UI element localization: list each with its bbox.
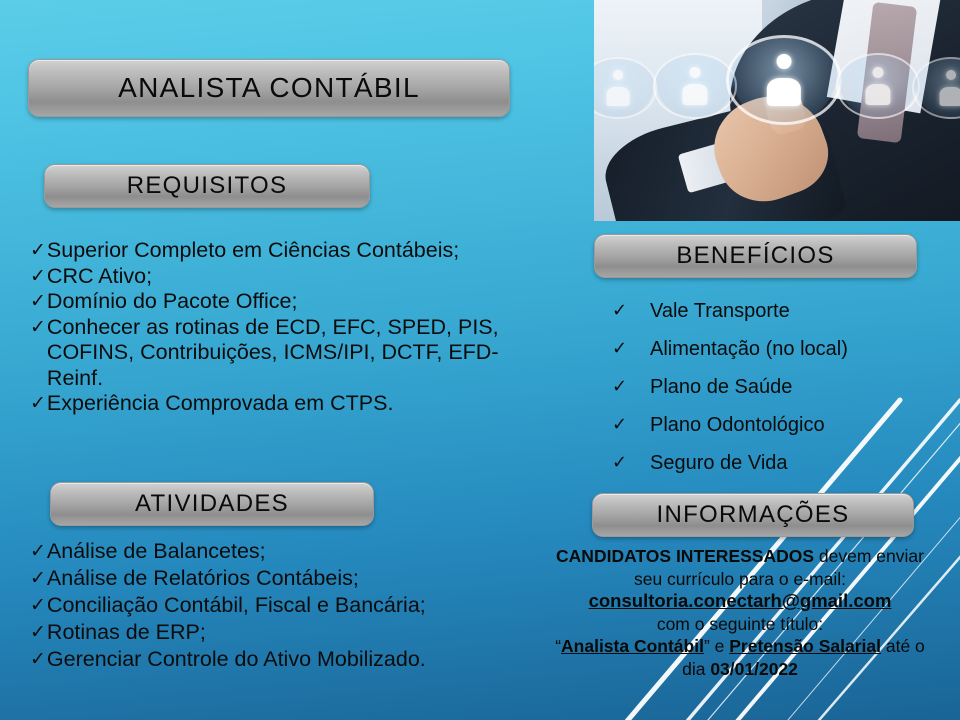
deadline-date: 03/01/2022 (710, 659, 798, 679)
list-item-label: Alimentação (no local) (650, 330, 942, 368)
person-icon (726, 35, 842, 125)
check-icon: ✓ (30, 565, 46, 592)
check-icon: ✓ (30, 646, 46, 673)
list-item-label: Domínio do Pacote Office; (47, 289, 535, 315)
job-title-banner: ANALISTA CONTÁBIL (28, 59, 510, 117)
subject-job-title: Analista Contábil (561, 636, 704, 656)
list-item: ✓ Rotinas de ERP; (30, 619, 540, 646)
contact-line-6: dia 03/01/2022 (528, 658, 952, 681)
list-item-label: Vale Transporte (650, 292, 942, 330)
hero-photo (594, 0, 960, 221)
contact-email-link[interactable]: consultoria.conectarh@gmail.com (528, 590, 952, 613)
check-icon: ✓ (612, 292, 650, 330)
check-icon: ✓ (612, 444, 650, 482)
atividades-heading-text: ATIVIDADES (135, 490, 289, 518)
day-prefix: dia (682, 659, 710, 679)
list-item-label: Superior Completo em Ciências Contábeis; (47, 238, 535, 264)
requisitos-heading-text: REQUISITOS (127, 172, 288, 200)
informacoes-heading-text: INFORMAÇÕES (657, 501, 850, 529)
candidates-label: CANDIDATOS INTERESSADOS (556, 546, 814, 566)
section-heading-informacoes: INFORMAÇÕES (592, 493, 914, 537)
check-icon: ✓ (30, 289, 46, 315)
list-item-label: Seguro de Vida (650, 444, 942, 482)
beneficios-heading-text: BENEFÍCIOS (676, 242, 834, 270)
section-heading-beneficios: BENEFÍCIOS (594, 234, 917, 278)
beneficios-list: ✓ Vale Transporte ✓ Alimentação (no loca… (612, 292, 942, 482)
list-item-label: Conciliação Contábil, Fiscal e Bancária; (47, 592, 540, 619)
check-icon: ✓ (30, 238, 46, 264)
list-item: ✓ Experiência Comprovada em CTPS. (30, 391, 535, 417)
job-posting-slide: ANALISTA CONTÁBIL REQUISITOS ATIVIDADES … (0, 0, 960, 720)
contact-line-1-rest: devem enviar (814, 546, 924, 566)
check-icon: ✓ (612, 368, 650, 406)
list-item: ✓ Superior Completo em Ciências Contábei… (30, 238, 535, 264)
requisitos-list: ✓ Superior Completo em Ciências Contábei… (30, 238, 535, 417)
list-item-label: Análise de Balancetes; (47, 538, 540, 565)
check-icon: ✓ (30, 592, 46, 619)
list-item: ✓ Vale Transporte (612, 292, 942, 330)
list-item: ✓ CRC Ativo; (30, 264, 535, 290)
list-item: ✓ Plano Odontológico (612, 406, 942, 444)
job-title-text: ANALISTA CONTÁBIL (118, 72, 420, 104)
list-item: ✓ Plano de Saúde (612, 368, 942, 406)
contact-line-5: “Analista Contábil” e Pretensão Salarial… (528, 635, 952, 658)
list-item: ✓ Alimentação (no local) (612, 330, 942, 368)
check-icon: ✓ (612, 406, 650, 444)
check-icon: ✓ (30, 619, 46, 646)
person-icon (836, 53, 921, 119)
list-item: ✓ Conhecer as rotinas de ECD, EFC, SPED,… (30, 315, 535, 392)
check-icon: ✓ (30, 538, 46, 565)
list-item: ✓ Domínio do Pacote Office; (30, 289, 535, 315)
list-item-label: CRC Ativo; (47, 264, 535, 290)
list-item: ✓ Gerenciar Controle do Ativo Mobilizado… (30, 646, 540, 673)
check-icon: ✓ (612, 330, 650, 368)
section-heading-atividades: ATIVIDADES (50, 482, 374, 526)
list-item: ✓ Análise de Relatórios Contábeis; (30, 565, 540, 592)
list-item-label: Experiência Comprovada em CTPS. (47, 391, 535, 417)
check-icon: ✓ (30, 391, 46, 417)
person-icon (653, 53, 738, 119)
list-item-label: Gerenciar Controle do Ativo Mobilizado. (47, 646, 540, 673)
list-item-label: Análise de Relatórios Contábeis; (47, 565, 540, 592)
list-item-label: Plano de Saúde (650, 368, 942, 406)
list-item: ✓ Conciliação Contábil, Fiscal e Bancári… (30, 592, 540, 619)
list-item: ✓ Seguro de Vida (612, 444, 942, 482)
section-heading-requisitos: REQUISITOS (44, 164, 370, 208)
list-item-label: Plano Odontológico (650, 406, 942, 444)
list-item-label: Rotinas de ERP; (47, 619, 540, 646)
contact-line-5-tail: até o (881, 636, 925, 656)
list-item: ✓ Análise de Balancetes; (30, 538, 540, 565)
check-icon: ✓ (30, 315, 46, 341)
conjunction: e (710, 636, 729, 656)
contact-information-block: CANDIDATOS INTERESSADOS devem enviar seu… (528, 545, 952, 680)
contact-line-2: seu currículo para o e-mail: (528, 568, 952, 591)
atividades-list: ✓ Análise de Balancetes; ✓ Análise de Re… (30, 538, 540, 673)
list-item-label: Conhecer as rotinas de ECD, EFC, SPED, P… (47, 315, 535, 392)
contact-line-1: CANDIDATOS INTERESSADOS devem enviar (528, 545, 952, 568)
contact-line-4: com o seguinte título: (528, 613, 952, 636)
salary-expectation-label: Pretensão Salarial (729, 636, 881, 656)
check-icon: ✓ (30, 264, 46, 290)
